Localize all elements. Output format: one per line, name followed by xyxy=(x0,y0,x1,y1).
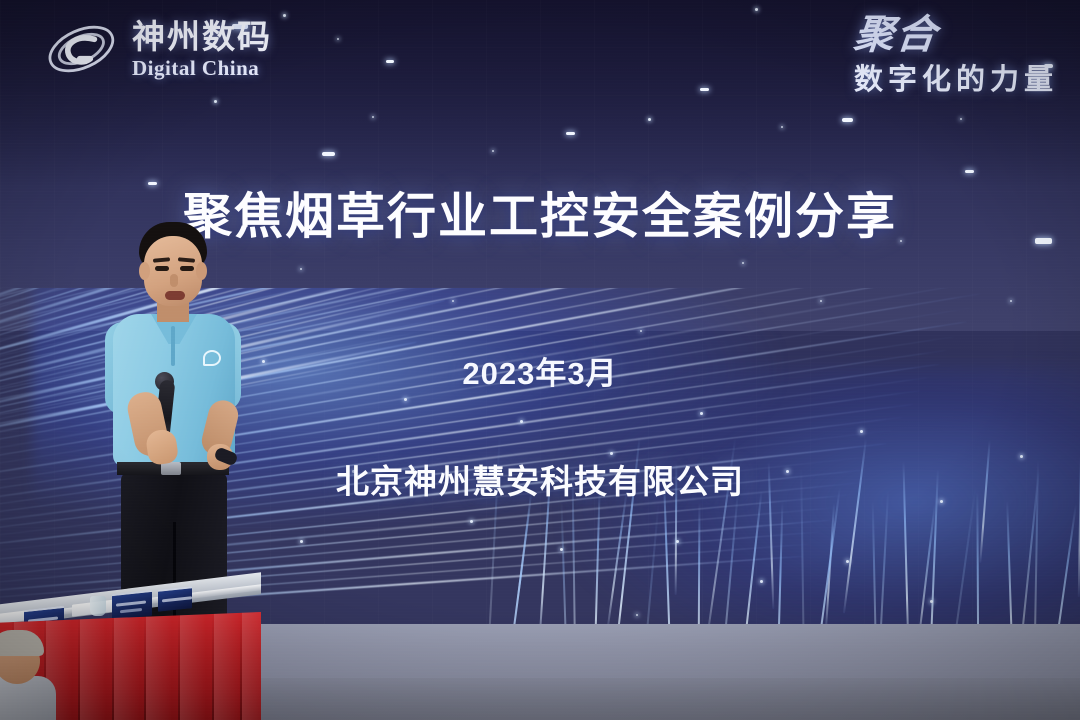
table-skirt-highlight xyxy=(180,612,206,720)
slogan-subtitle: 数字化的力量 xyxy=(854,56,1058,98)
slogan-calligraphy: 聚合 xyxy=(852,16,940,54)
speaker-eye-left xyxy=(155,266,169,271)
brand-text: 神州数码 Digital China xyxy=(132,20,272,79)
brand-logo: 神州数码 Digital China xyxy=(44,18,272,80)
guest-hair xyxy=(0,630,44,656)
table-cup xyxy=(90,596,106,616)
speaker-nose xyxy=(170,274,178,287)
name-card xyxy=(112,590,152,620)
digital-china-swirl-icon xyxy=(44,18,122,80)
speaker-belt-buckle xyxy=(161,462,181,475)
shirt-logo-icon xyxy=(203,350,221,366)
screenshot-root: 神州数码 Digital China 聚合 数字化的力量 聚焦烟草行业工控安全案… xyxy=(0,0,1080,720)
name-card xyxy=(158,586,192,612)
speaker-mouth xyxy=(165,291,185,300)
table-skirt-highlight xyxy=(214,612,240,720)
name-card-line xyxy=(116,601,146,607)
speaker-ear-left xyxy=(139,262,150,280)
speaker-eye-right xyxy=(180,266,194,271)
name-card-line xyxy=(120,608,142,613)
speaker-placket xyxy=(171,326,175,366)
table-skirt-highlight xyxy=(114,612,140,720)
seated-guest xyxy=(0,630,74,720)
brand-name-en: Digital China xyxy=(132,58,272,79)
event-slogan: 聚合 数字化的力量 xyxy=(854,16,1058,98)
table-skirt-highlight xyxy=(146,612,172,720)
table-skirt-highlight xyxy=(80,612,106,720)
brand-name-cn: 神州数码 xyxy=(132,20,272,53)
name-card-line xyxy=(162,596,192,602)
speaker-ear-right xyxy=(196,262,207,280)
